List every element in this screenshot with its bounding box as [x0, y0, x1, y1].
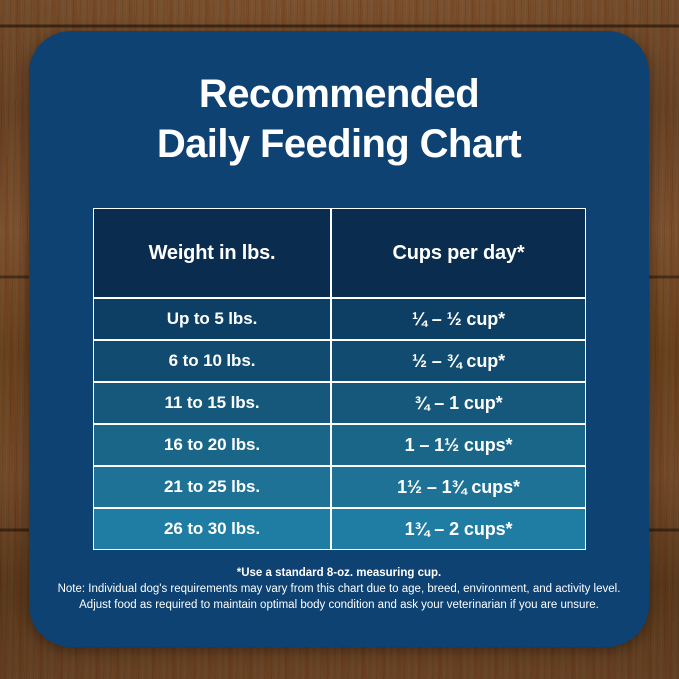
footnote-note: Note: Individual dog's requirements may …: [29, 581, 649, 597]
cell-weight: 26 to 30 lbs.: [93, 508, 331, 550]
cell-weight: 11 to 15 lbs.: [93, 382, 331, 424]
table-header-row: Weight in lbs. Cups per day*: [93, 208, 586, 298]
footnote-measuring-cup: *Use a standard 8-oz. measuring cup.: [29, 565, 649, 581]
table-body: Up to 5 lbs.¼ – ½ cup*6 to 10 lbs.½ – ¾ …: [93, 298, 586, 550]
column-header-weight: Weight in lbs.: [93, 208, 331, 298]
page-title: Recommended Daily Feeding Chart: [29, 69, 649, 169]
cell-cups: 1¾ – 2 cups*: [331, 508, 586, 550]
cell-cups: 1½ – 1¾ cups*: [331, 466, 586, 508]
column-header-cups: Cups per day*: [331, 208, 586, 298]
table-row: Up to 5 lbs.¼ – ½ cup*: [93, 298, 586, 340]
cell-cups: ¾ – 1 cup*: [331, 382, 586, 424]
cell-cups: ¼ – ½ cup*: [331, 298, 586, 340]
cell-weight: Up to 5 lbs.: [93, 298, 331, 340]
table-row: 16 to 20 lbs.1 – 1½ cups*: [93, 424, 586, 466]
footnote-adjust: Adjust food as required to maintain opti…: [29, 597, 649, 613]
table-row: 6 to 10 lbs.½ – ¾ cup*: [93, 340, 586, 382]
cell-weight: 21 to 25 lbs.: [93, 466, 331, 508]
cell-cups: 1 – 1½ cups*: [331, 424, 586, 466]
cell-cups: ½ – ¾ cup*: [331, 340, 586, 382]
footnotes: *Use a standard 8-oz. measuring cup. Not…: [29, 565, 649, 613]
table-row: 21 to 25 lbs.1½ – 1¾ cups*: [93, 466, 586, 508]
table-row: 26 to 30 lbs.1¾ – 2 cups*: [93, 508, 586, 550]
feeding-chart-card: Recommended Daily Feeding Chart Weight i…: [29, 31, 649, 647]
page-title-line-2: Daily Feeding Chart: [29, 119, 649, 169]
table-row: 11 to 15 lbs.¾ – 1 cup*: [93, 382, 586, 424]
page-title-line-1: Recommended: [29, 69, 649, 119]
cell-weight: 16 to 20 lbs.: [93, 424, 331, 466]
feeding-chart-table: Weight in lbs. Cups per day* Up to 5 lbs…: [93, 208, 586, 550]
cell-weight: 6 to 10 lbs.: [93, 340, 331, 382]
